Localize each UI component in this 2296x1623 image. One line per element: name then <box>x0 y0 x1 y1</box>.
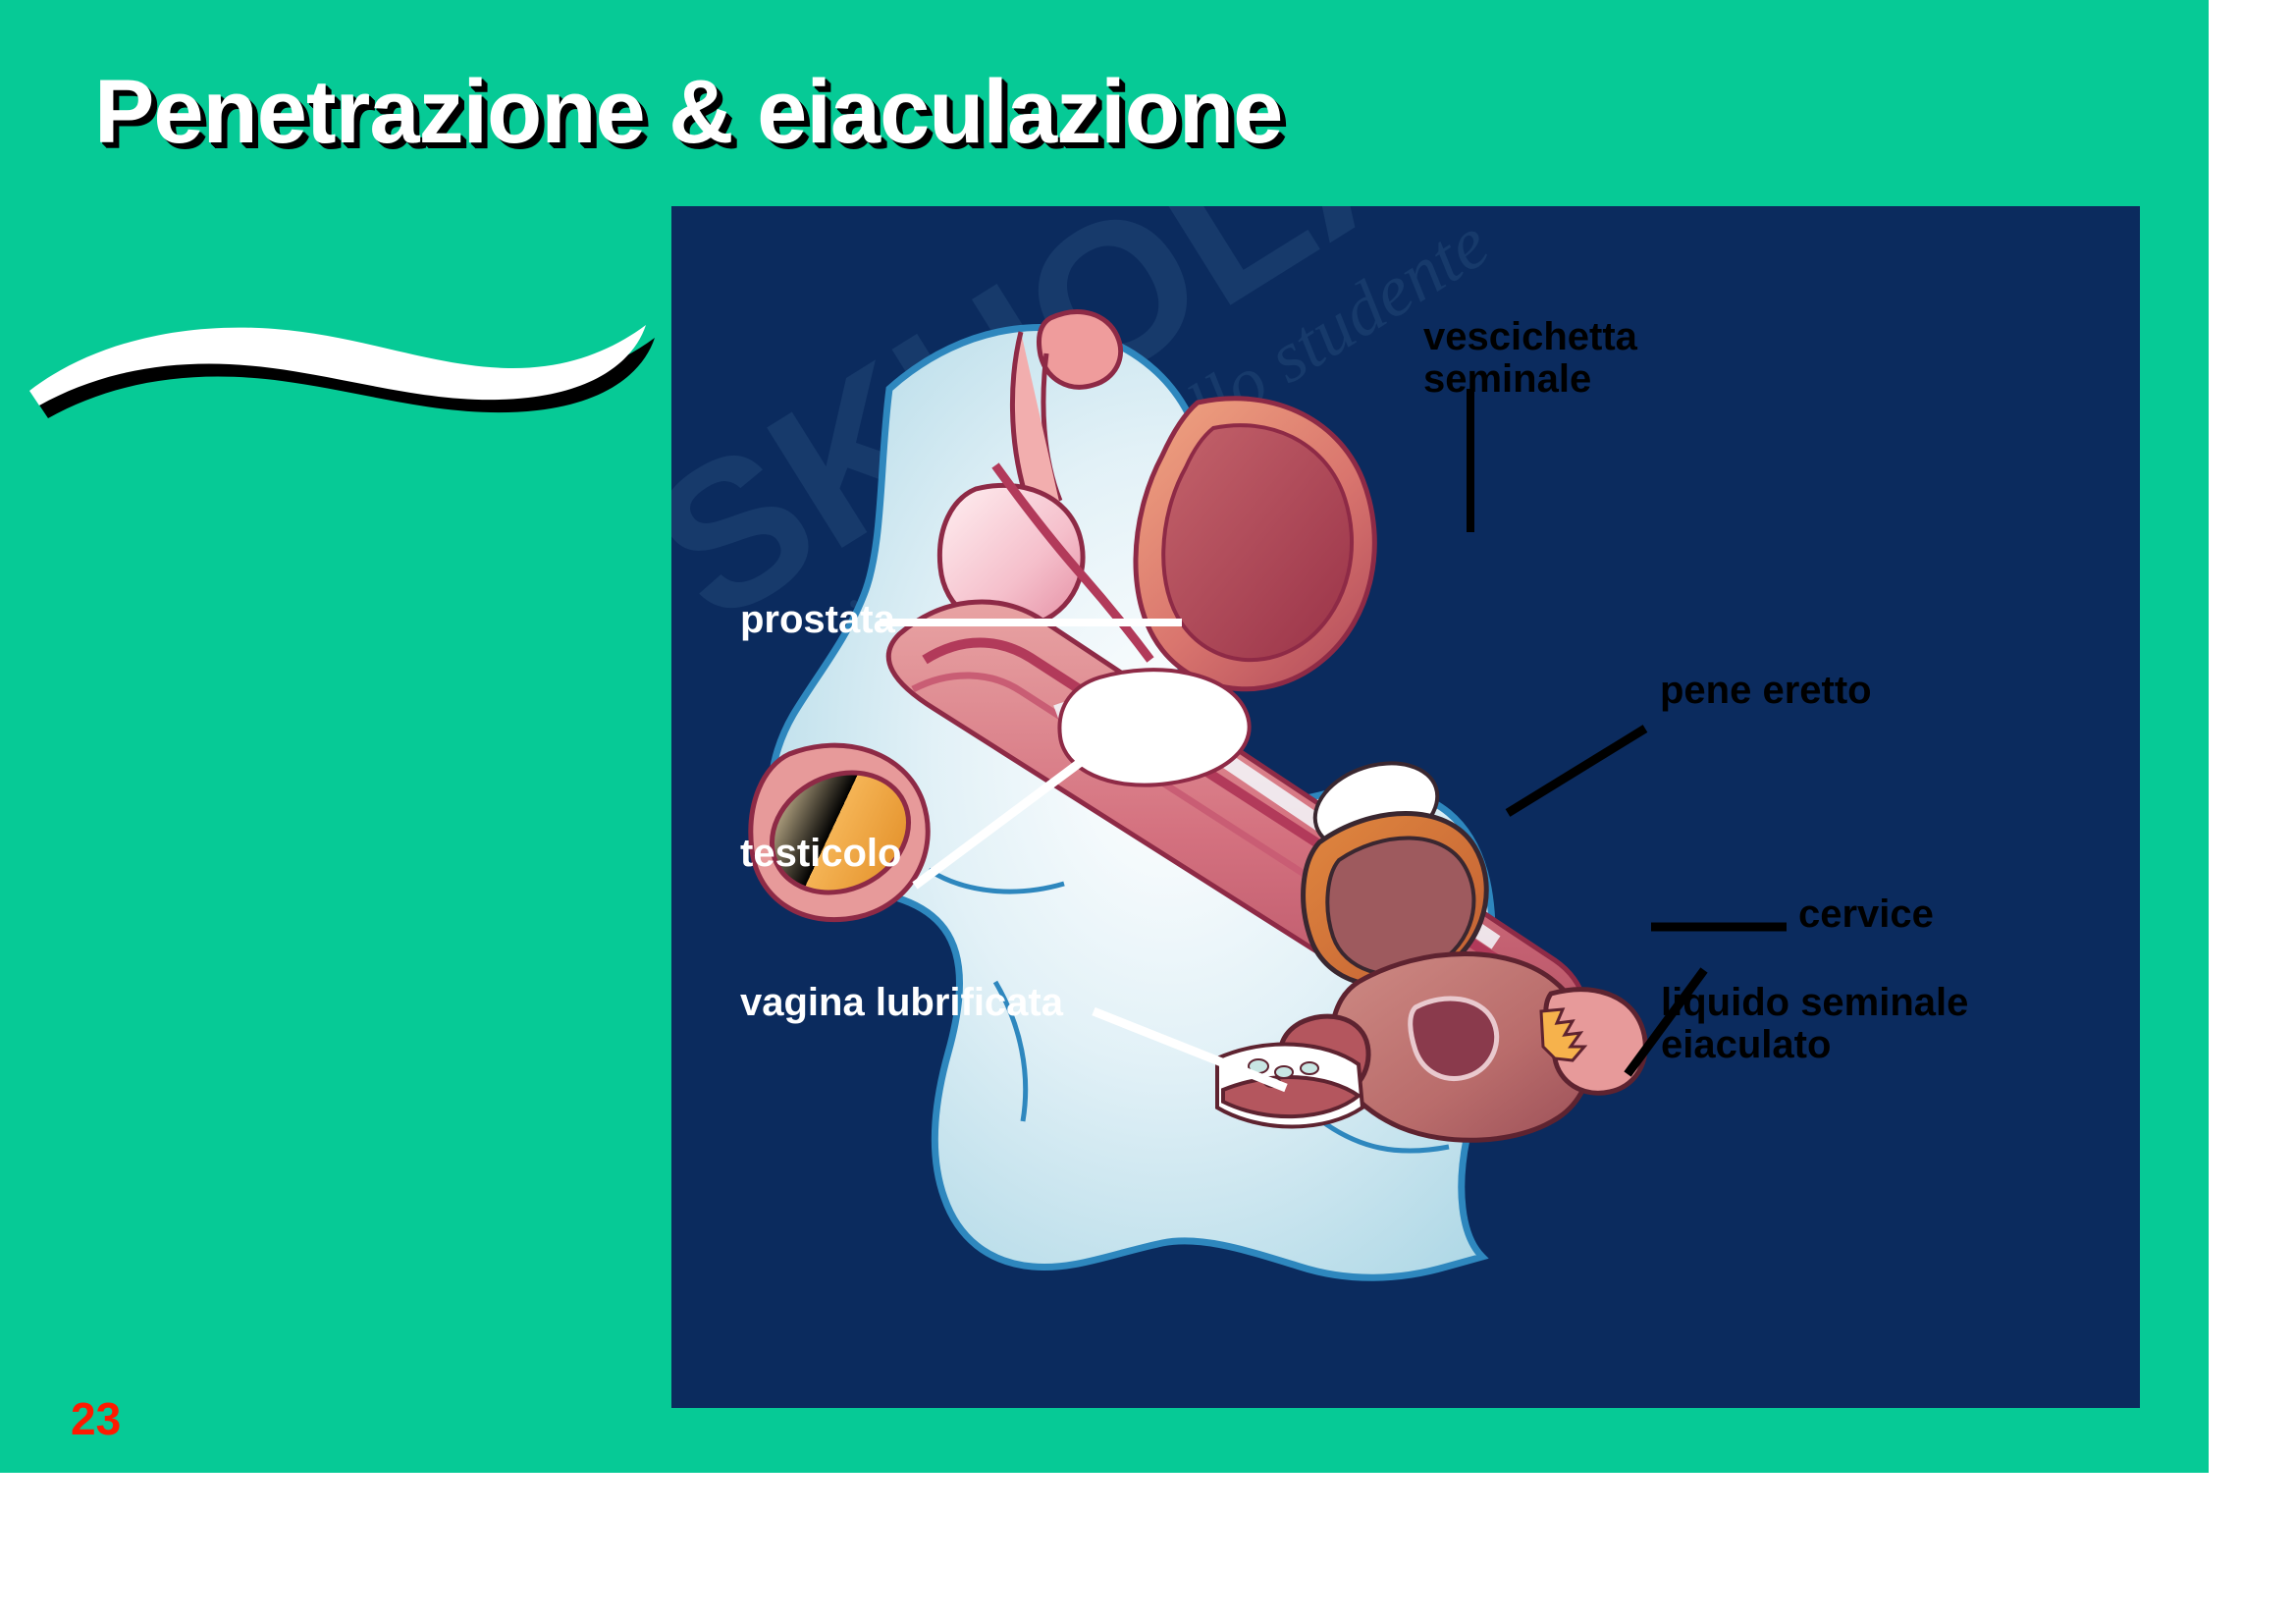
label-pene-eretto: pene eretto <box>1660 670 1872 712</box>
pubic-symphysis-male <box>1059 670 1249 784</box>
bladder-inner <box>1163 425 1352 660</box>
label-cervice: cervice <box>1798 893 1934 936</box>
diagram-panel: SKUOLA il paradiso dello studente <box>671 206 2140 1408</box>
label-prostata: prostata <box>740 599 895 641</box>
page-number: 23 <box>71 1392 121 1445</box>
page-title: Penetrazione & eiaculazione <box>94 61 1282 164</box>
label-vescichetta-seminale: vescichetta seminale <box>1423 316 1637 401</box>
label-liquido-seminale-eiaculato: liquido seminale eiaculato <box>1661 982 1968 1066</box>
label-vagina-lubrificata: vagina lubrificata <box>740 982 1063 1024</box>
label-testicolo: testicolo <box>740 833 901 875</box>
seminal-vesicle <box>1039 312 1120 388</box>
swoosh-decoration <box>18 290 666 422</box>
anatomy-illustration <box>671 206 2140 1408</box>
leader-pene <box>1508 729 1645 813</box>
uterine-cavity <box>1411 999 1497 1079</box>
slide-canvas: Penetrazione & eiaculazione 23 SKUOLA il… <box>0 0 2209 1473</box>
